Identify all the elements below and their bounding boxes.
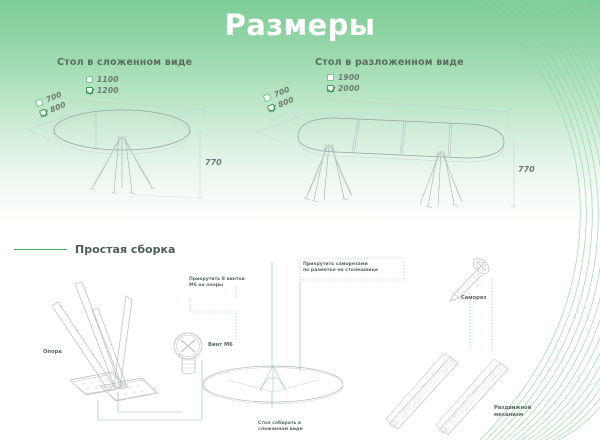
part-label-screw: Саморез	[461, 295, 486, 302]
dimension-value: 1200	[97, 86, 119, 95]
checkbox-checked-icon[interactable]	[39, 108, 48, 117]
annotation-bolt-note: Прикрутить 8 винтов М6 на опоры	[189, 277, 261, 289]
bolt-m6-drawing	[168, 330, 216, 380]
annotation-fold-note: Стол собирать в сложенном виде	[258, 421, 338, 433]
rule-left	[14, 249, 67, 250]
checkbox-checked-icon[interactable]	[327, 85, 334, 92]
checkbox-unchecked-icon[interactable]	[327, 74, 334, 81]
folded-height-label: 770	[205, 158, 222, 167]
checkbox-unchecked-icon[interactable]	[263, 93, 272, 102]
folded-width-option-0[interactable]: 1100	[86, 74, 119, 85]
part-label-mechanism: Раздвижной механизм	[494, 405, 554, 419]
unfolded-height-label: 770	[518, 165, 535, 174]
part-label-support: Опора	[43, 349, 62, 356]
unfolded-width-option-1[interactable]: 2000	[327, 83, 360, 94]
assembled-table-drawing	[198, 358, 348, 418]
unfolded-width-option-0[interactable]: 1900	[327, 72, 360, 83]
assembly-section-heading: Простая сборка	[67, 243, 183, 256]
folded-width-option-1[interactable]: 1200	[86, 85, 119, 96]
checkbox-checked-icon[interactable]	[267, 103, 276, 112]
folded-width-options: 1100 1200	[86, 74, 119, 96]
annotation-screw-note: Прикрутить саморезами по разметке на сто…	[303, 262, 399, 274]
support-legs-drawing	[22, 262, 202, 427]
page-root: Размеры Стол в сложенном виде	[0, 0, 600, 440]
assembly-section-band: Простая сборка	[14, 241, 586, 257]
dimension-value: 2000	[338, 84, 360, 93]
section-heading-folded: Стол в сложенном виде	[57, 57, 192, 68]
dimension-value: 1900	[338, 73, 360, 82]
checkbox-unchecked-icon[interactable]	[35, 98, 44, 107]
page-title: Размеры	[0, 8, 600, 42]
slide-mechanism-drawing	[378, 345, 538, 435]
dimension-value: 1100	[97, 75, 119, 84]
checkbox-checked-icon[interactable]	[86, 87, 93, 94]
unfolded-width-options: 1900 2000	[327, 72, 360, 94]
section-heading-unfolded: Стол в разложенном виде	[315, 57, 464, 68]
part-label-bolt: Винт М6	[208, 342, 233, 349]
checkbox-unchecked-icon[interactable]	[86, 76, 93, 83]
